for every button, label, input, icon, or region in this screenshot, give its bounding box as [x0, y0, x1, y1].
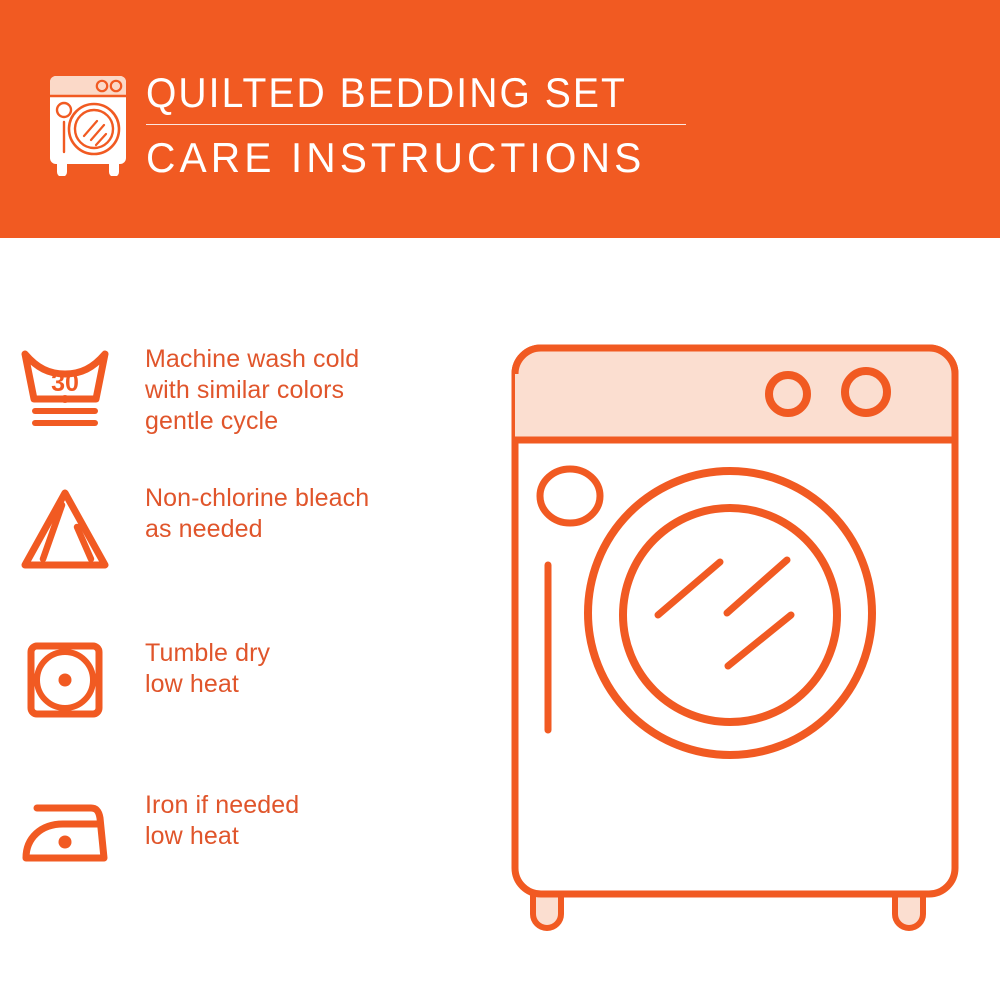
iron-low-heat-icon	[0, 790, 130, 882]
page-subtitle: CARE INSTRUCTIONS	[146, 134, 689, 182]
wash-tub-30-gentle-icon: 30	[0, 344, 130, 436]
wash-temperature-label: 30	[51, 369, 79, 397]
care-row-iron: Iron if needed low heat	[0, 790, 500, 882]
header-banner: QUILTED BEDDING SET CARE INSTRUCTIONS	[0, 0, 1000, 238]
care-text-iron: Iron if needed low heat	[130, 790, 299, 852]
title-divider	[146, 124, 686, 125]
gentle-bar-1	[32, 408, 98, 414]
care-text-line: low heat	[145, 669, 270, 700]
care-text-line: with similar colors	[145, 375, 359, 406]
iron-heat-dot	[59, 836, 72, 849]
care-text-line: Iron if needed	[145, 790, 299, 821]
care-text-line: Non-chlorine bleach	[145, 483, 369, 514]
non-chlorine-bleach-triangle-icon	[0, 483, 130, 575]
care-text-line: low heat	[145, 821, 299, 852]
care-instructions-page: QUILTED BEDDING SET CARE INSTRUCTIONS 30…	[0, 0, 1000, 1000]
care-row-bleach: Non-chlorine bleach as needed	[0, 483, 500, 575]
care-text-tumble-dry: Tumble dry low heat	[130, 638, 270, 700]
care-text-line: Tumble dry	[145, 638, 270, 669]
tumble-dry-low-heat-icon	[0, 638, 130, 730]
care-text-line: Machine wash cold	[145, 344, 359, 375]
care-text-machine-wash: Machine wash cold with similar colors ge…	[130, 344, 359, 437]
care-row-machine-wash: 30 Machine wash cold with similar colors…	[0, 344, 500, 437]
washing-machine-icon	[44, 72, 136, 176]
care-text-line: as needed	[145, 514, 369, 545]
care-instruction-list: 30 Machine wash cold with similar colors…	[0, 238, 500, 1000]
care-text-line: gentle cycle	[145, 406, 359, 437]
care-row-tumble-dry: Tumble dry low heat	[0, 638, 500, 730]
wash-dot	[61, 395, 69, 403]
dry-heat-dot	[59, 674, 72, 687]
page-title: QUILTED BEDDING SET	[146, 70, 667, 116]
gentle-bar-2	[32, 420, 98, 426]
care-text-bleach: Non-chlorine bleach as needed	[130, 483, 369, 545]
header-title-group: QUILTED BEDDING SET CARE INSTRUCTIONS	[146, 70, 706, 182]
front-load-washing-machine-illustration	[495, 330, 975, 940]
